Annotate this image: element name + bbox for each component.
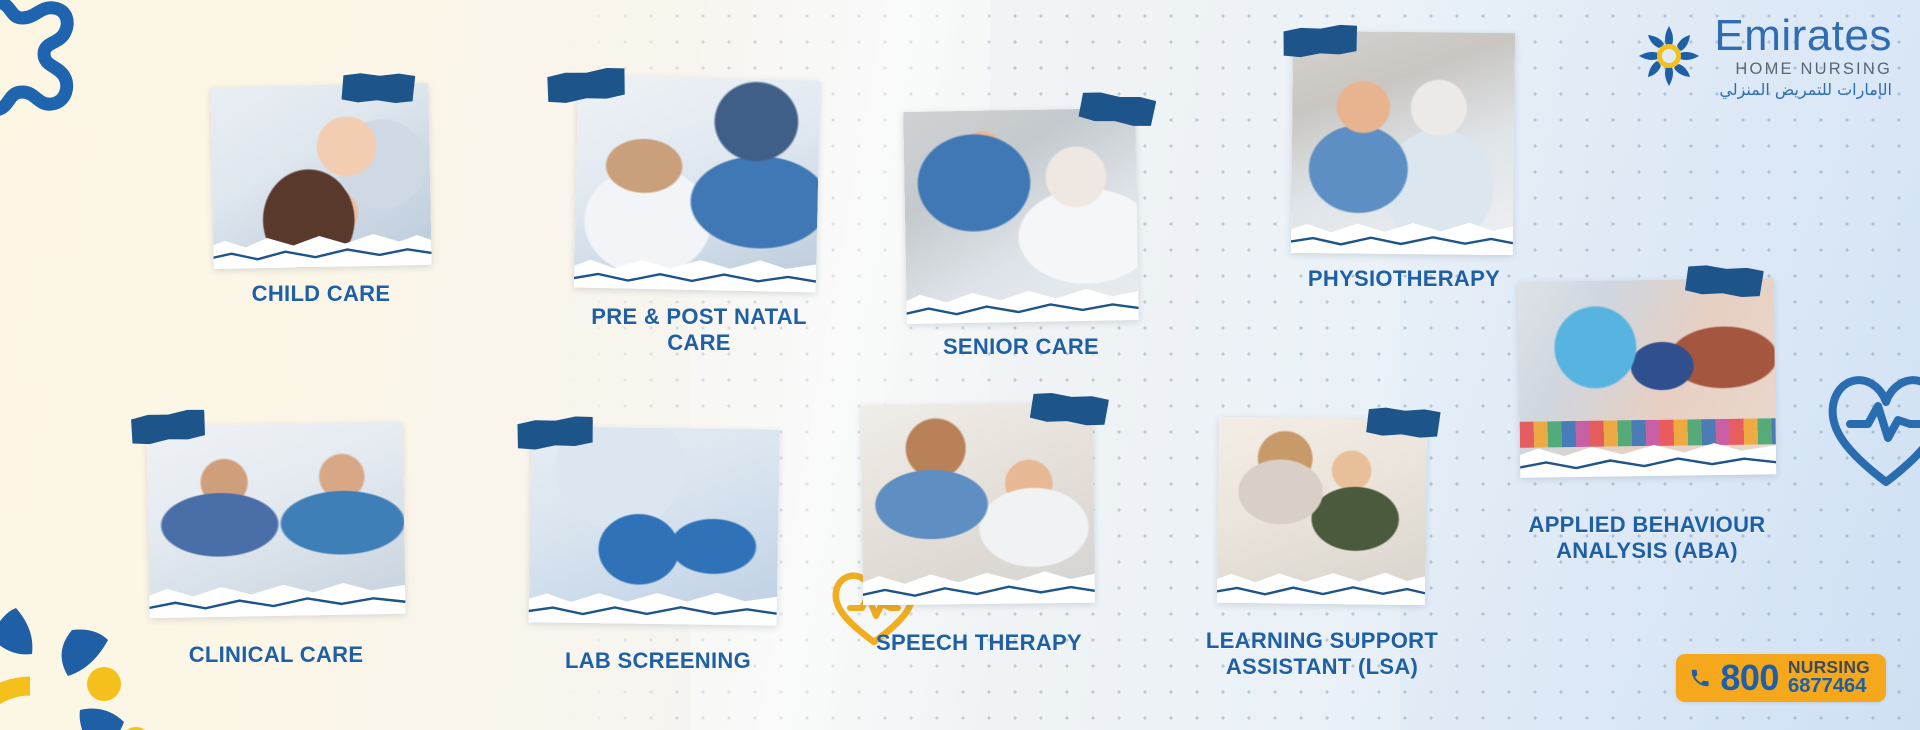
service-card-child-care[interactable]: CHILD CARE [212,85,430,267]
banner-stage: Emirates HOME NURSING الإمارات للتمريض ا… [0,0,1920,730]
tape-strip [1684,263,1764,298]
phone-prefix: 800 [1720,660,1779,696]
phone-cta-badge[interactable]: 800 NURSING 6877464 [1676,654,1886,702]
puzzle-piece-outline-icon [0,0,96,132]
service-label-applied-behaviour: APPLIED BEHAVIOUR ANALYSIS (ABA) [1471,512,1823,564]
service-photo-speech-therapy [861,403,1095,605]
service-label-clinical-care: CLINICAL CARE [120,642,432,668]
tape-strip [1365,406,1440,439]
service-label-lab-screening: LAB SCREENING [502,648,814,674]
tape-strip [1281,23,1359,58]
service-card-senior-care[interactable]: SENIOR CARE [905,110,1137,322]
heart-pulse-blue-icon [1826,366,1920,490]
service-photo-applied-behaviour [1518,278,1777,478]
service-card-speech-therapy[interactable]: SPEECH THERAPY [862,404,1094,604]
service-photo-learning-support [1217,417,1427,606]
service-label-physiotherapy: PHYSIOTHERAPY [1248,266,1560,292]
logo-brand-name: Emirates [1714,14,1892,58]
service-card-applied-behaviour[interactable]: APPLIED BEHAVIOUR ANALYSIS (ABA) [1519,280,1775,476]
sunburst-logo-icon [1638,25,1700,87]
service-label-senior-care: SENIOR CARE [869,334,1173,360]
service-photo-clinical-care [146,422,405,618]
service-label-speech-therapy: SPEECH THERAPY [826,630,1132,656]
service-photo-physiotherapy [1291,31,1515,255]
service-photo-child-care [210,83,431,269]
service-label-learning-support: LEARNING SUPPORT ASSISTANT (LSA) [1170,628,1474,680]
service-photo-senior-care [903,108,1139,324]
service-card-pre-post-natal[interactable]: PRE & POST NATAL CARE [576,78,818,290]
service-label-child-care: CHILD CARE [168,281,474,307]
tape-strip [341,72,416,103]
phone-handset-icon [1689,667,1711,689]
logo-tagline: HOME NURSING [1735,61,1892,78]
service-photo-lab-screening [529,426,780,625]
service-card-learning-support[interactable]: LEARNING SUPPORT ASSISTANT (LSA) [1218,418,1426,604]
brand-logo[interactable]: Emirates HOME NURSING الإمارات للتمريض ا… [1638,14,1892,98]
service-card-physiotherapy[interactable]: PHYSIOTHERAPY [1292,32,1514,254]
service-card-clinical-care[interactable]: CLINICAL CARE [148,424,404,616]
logo-tagline-arabic: الإمارات للتمريض المنزلي [1719,82,1892,98]
phone-digits: 6877464 [1788,676,1870,697]
service-photo-pre-post-natal [574,75,820,292]
service-card-lab-screening[interactable]: LAB SCREENING [530,428,778,624]
service-label-pre-post-natal: PRE & POST NATAL CARE [524,304,874,356]
sunburst-logo-large-icon [0,606,148,730]
